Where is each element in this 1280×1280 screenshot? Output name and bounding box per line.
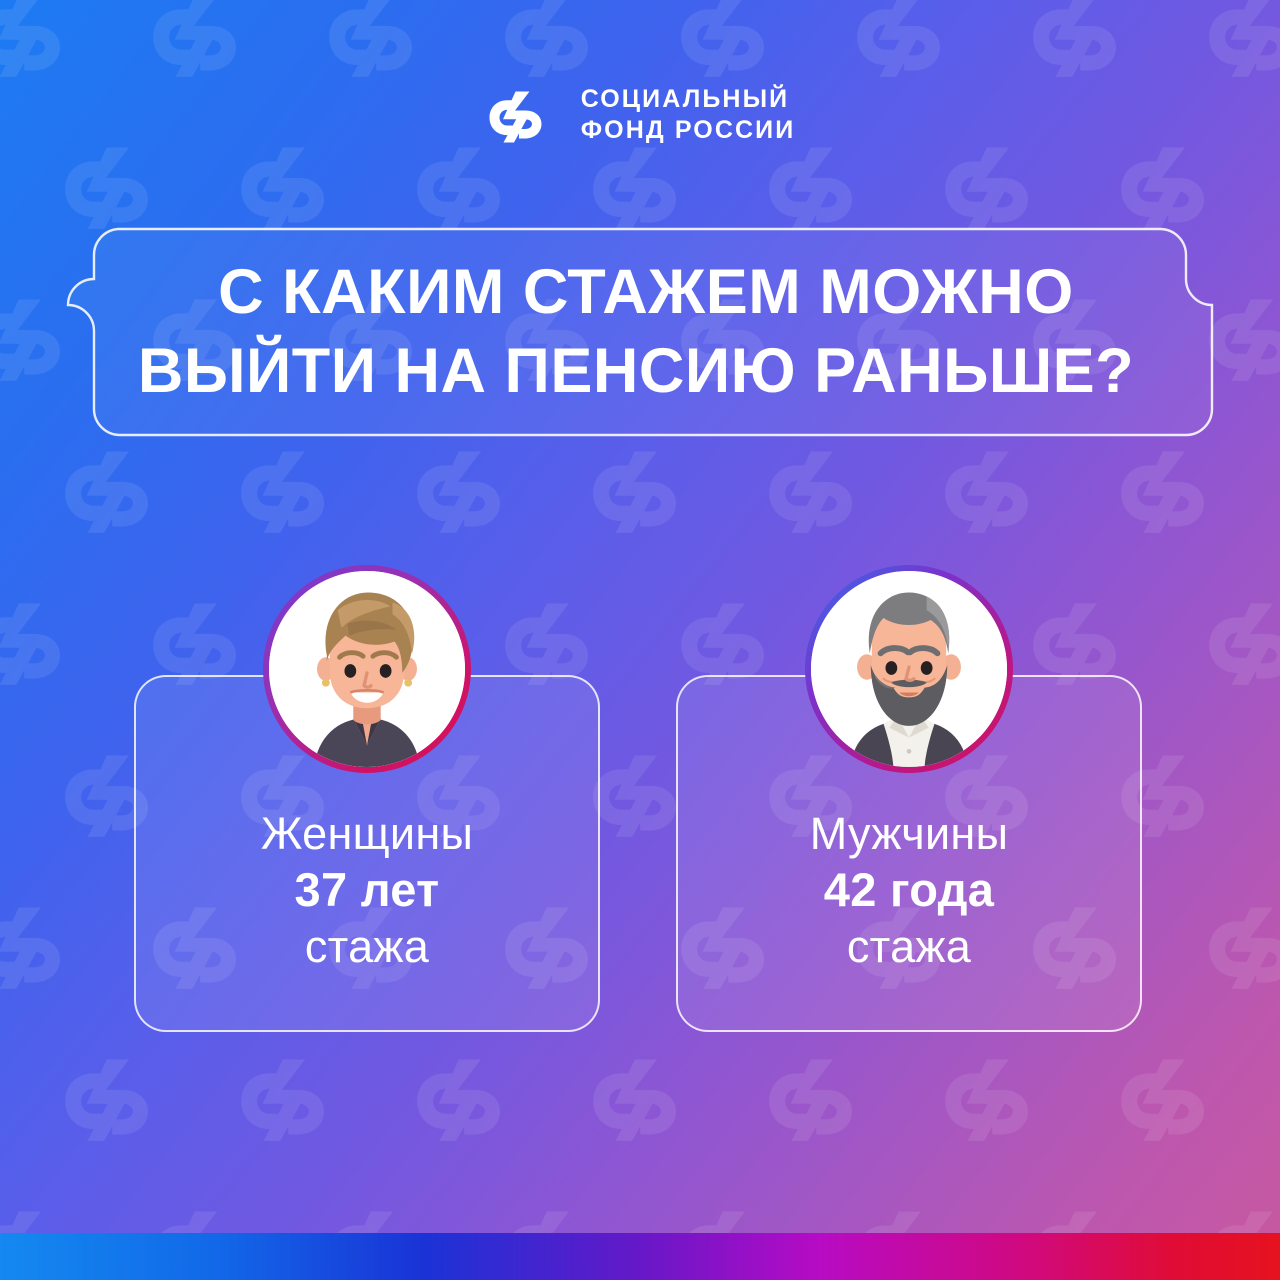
watermark-glyph — [1026, 0, 1144, 86]
watermark-glyph — [234, 436, 352, 542]
infographic-canvas: СОЦИАЛЬНЫЙ ФОНД РОССИИ С КАКИМ СТАЖЕМ МО… — [0, 0, 1280, 1280]
card-amount-value: 37 лет — [136, 859, 598, 920]
sfr-monogram-icon — [485, 82, 559, 148]
man-avatar-icon — [805, 565, 1013, 773]
woman-avatar-icon — [263, 565, 471, 773]
title-plate: С КАКИМ СТАЖЕМ МОЖНО ВЫЙТИ НА ПЕНСИЮ РАН… — [40, 226, 1240, 438]
stat-card-men: Мужчины 42 года стажа — [676, 675, 1142, 1032]
watermark-glyph — [1114, 1044, 1232, 1150]
brand-header: СОЦИАЛЬНЫЙ ФОНД РОССИИ — [0, 82, 1280, 148]
brand-line-1: СОЦИАЛЬНЫЙ — [581, 84, 796, 116]
card-gender-label: Мужчины — [678, 809, 1140, 859]
card-gender-label: Женщины — [136, 809, 598, 859]
watermark-glyph — [1114, 436, 1232, 542]
watermark-glyph — [586, 1044, 704, 1150]
watermark-glyph — [1202, 0, 1280, 86]
card-suffix-label: стажа — [136, 920, 598, 975]
card-suffix-label: стажа — [678, 920, 1140, 975]
watermark-glyph — [1202, 588, 1280, 694]
watermark-glyph — [410, 1044, 528, 1150]
title-line-2: ВЫЙТИ НА ПЕНСИЮ РАНЬШЕ? — [138, 332, 1134, 411]
watermark-glyph — [938, 1044, 1056, 1150]
avatar — [811, 571, 1007, 767]
brand-wordmark: СОЦИАЛЬНЫЙ ФОНД РОССИИ — [581, 84, 796, 147]
watermark-glyph — [58, 1044, 176, 1150]
watermark-glyph — [586, 436, 704, 542]
brand-line-2: ФОНД РОССИИ — [581, 115, 796, 147]
stat-card-women: Женщины 37 лет стажа — [134, 675, 600, 1032]
watermark-glyph — [322, 0, 440, 86]
watermark-glyph — [850, 0, 968, 86]
watermark-glyph — [762, 436, 880, 542]
watermark-glyph — [0, 0, 88, 86]
avatar — [269, 571, 465, 767]
watermark-glyph — [498, 0, 616, 86]
title-line-1: С КАКИМ СТАЖЕМ МОЖНО — [218, 253, 1074, 332]
page-title: С КАКИМ СТАЖЕМ МОЖНО ВЫЙТИ НА ПЕНСИЮ РАН… — [40, 226, 1240, 438]
watermark-glyph — [410, 436, 528, 542]
background-watermark-pattern — [0, 0, 1280, 1280]
watermark-glyph — [0, 892, 88, 998]
footer-gradient-bar — [0, 1233, 1280, 1280]
watermark-glyph — [674, 0, 792, 86]
watermark-glyph — [1202, 892, 1280, 998]
stat-card-text: Женщины 37 лет стажа — [136, 809, 598, 975]
stat-card-text: Мужчины 42 года стажа — [678, 809, 1140, 975]
watermark-glyph — [146, 0, 264, 86]
card-amount-value: 42 года — [678, 859, 1140, 920]
watermark-glyph — [0, 588, 88, 694]
watermark-glyph — [938, 436, 1056, 542]
watermark-glyph — [58, 436, 176, 542]
watermark-glyph — [762, 1044, 880, 1150]
watermark-glyph — [234, 1044, 352, 1150]
